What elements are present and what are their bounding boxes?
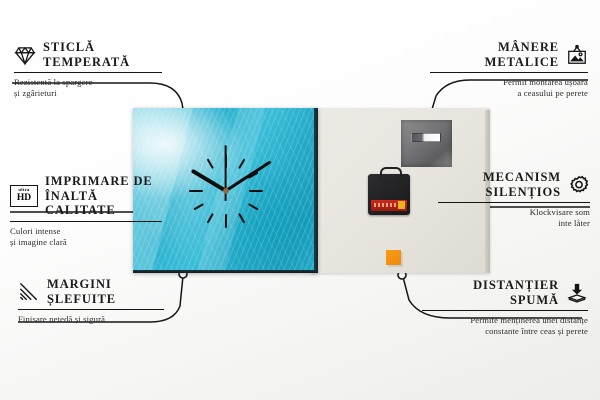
product-image bbox=[133, 108, 490, 273]
feature-rule bbox=[438, 202, 590, 203]
feature-subtitle-line1: Klockvisare som bbox=[438, 207, 590, 218]
feature-rule bbox=[18, 309, 164, 310]
feature-title-line2: SILENȚIOS bbox=[483, 185, 561, 200]
feature-sticla-temperata: STICLĂ TEMPERATĂ Rezistentă la spargere … bbox=[14, 40, 162, 99]
feature-title-line1: MARGINI bbox=[47, 277, 116, 292]
feature-title-line2: TEMPERATĂ bbox=[43, 55, 130, 70]
feature-manere-metalice: MÂNERE METALICE Permit montarea ușoară a… bbox=[430, 40, 588, 99]
feature-subtitle-line2: constante între ceas și perete bbox=[422, 326, 588, 337]
clock-mechanism bbox=[368, 174, 410, 215]
battery-label-stripe bbox=[374, 203, 396, 207]
ultra-hd-badge-icon: ultra HD bbox=[10, 185, 38, 207]
feature-title-line1: STICLĂ bbox=[43, 40, 130, 55]
hanger-slot bbox=[411, 133, 441, 142]
arrow-press-pad-icon bbox=[566, 282, 588, 304]
feature-subtitle-line2: și zgârieturi bbox=[14, 88, 162, 99]
feature-subtitle-line2: și imagine clară bbox=[10, 237, 162, 248]
feature-title-line2: SPUMĂ bbox=[473, 293, 559, 308]
feature-rule bbox=[430, 72, 588, 73]
badge-large-text: HD bbox=[17, 194, 31, 204]
diamond-icon bbox=[14, 44, 36, 66]
feature-title-line1: MECANISM bbox=[483, 170, 561, 185]
feature-rule bbox=[422, 310, 588, 311]
feature-subtitle-line1: Rezistentă la spargere bbox=[14, 77, 162, 88]
feature-subtitle-line2: a ceasului pe perete bbox=[430, 88, 588, 99]
glass-edge-bottom bbox=[133, 270, 318, 273]
feature-title-line2: ȘLEFUITE bbox=[47, 292, 116, 307]
battery bbox=[371, 200, 407, 211]
beveled-edge-icon bbox=[18, 281, 40, 303]
feature-margini-slefuite: MARGINI ȘLEFUITE Finisare netedă și sigu… bbox=[18, 277, 164, 325]
feature-subtitle-line1: Permite menținerea unei distanțe bbox=[422, 315, 588, 326]
infographic-canvas: STICLĂ TEMPERATĂ Rezistentă la spargere … bbox=[0, 0, 600, 400]
feature-mecanism-silentios: MECANISM SILENȚIOS Klockvisare som inte … bbox=[438, 170, 590, 229]
hanging-picture-icon bbox=[566, 44, 588, 66]
feature-title-line2: ÎNALTĂ CALITATE bbox=[45, 189, 162, 218]
feature-title-line2: METALICE bbox=[485, 55, 559, 70]
feature-rule bbox=[10, 221, 162, 222]
mechanism-loop bbox=[380, 167, 402, 178]
feature-subtitle-line1: Culori intense bbox=[10, 226, 162, 237]
feature-title-line1: IMPRIMARE DE bbox=[45, 174, 162, 189]
feature-subtitle-line2: inte låter bbox=[438, 218, 590, 229]
battery-terminal bbox=[398, 201, 405, 209]
feature-subtitle-line1: Finisare netedă și sigură bbox=[18, 314, 164, 325]
foam-spacer bbox=[386, 250, 401, 265]
feature-imprimare-inalta-calitate: ultra HD IMPRIMARE DE ÎNALTĂ CALITATE Cu… bbox=[10, 174, 162, 248]
feature-rule bbox=[14, 72, 162, 73]
gear-icon bbox=[568, 174, 590, 196]
clock-center-cap bbox=[223, 188, 229, 194]
glass-edge-right bbox=[314, 108, 318, 273]
feature-subtitle-line1: Permit montarea ușoară bbox=[430, 77, 588, 88]
feature-title-line1: MÂNERE bbox=[485, 40, 559, 55]
metal-hanger-bracket bbox=[401, 120, 452, 167]
feature-distantier-spuma: DISTANȚIER SPUMĂ Permite menținerea unei… bbox=[422, 278, 588, 337]
feature-title-line1: DISTANȚIER bbox=[473, 278, 559, 293]
